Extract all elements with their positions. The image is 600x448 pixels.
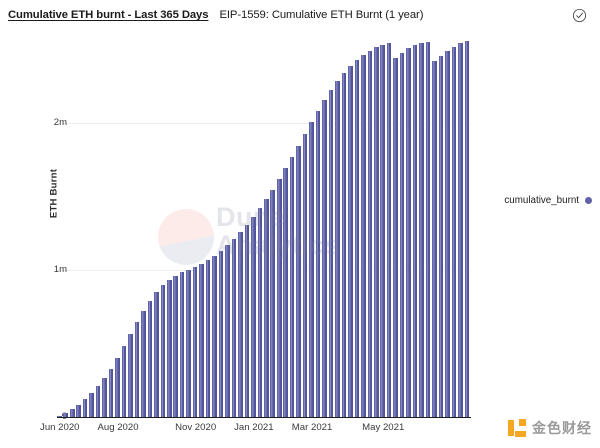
- bar[interactable]: [232, 239, 238, 417]
- bar[interactable]: [374, 47, 380, 417]
- bar[interactable]: [419, 43, 425, 417]
- bar[interactable]: [400, 53, 406, 417]
- bar[interactable]: [348, 66, 354, 417]
- bar[interactable]: [154, 292, 160, 417]
- bar[interactable]: [212, 256, 218, 417]
- bar[interactable]: [445, 51, 451, 417]
- bar[interactable]: [439, 56, 445, 417]
- bar[interactable]: [393, 58, 399, 417]
- bar[interactable]: [206, 260, 212, 417]
- bar[interactable]: [173, 276, 179, 417]
- bar[interactable]: [193, 267, 199, 417]
- x-axis-tick-label: May 2021: [362, 422, 404, 433]
- x-axis-tick-label: Mar 2021: [292, 422, 333, 433]
- brand-name: 金色财经: [532, 418, 592, 438]
- bar[interactable]: [161, 285, 167, 417]
- legend-item-label: cumulative_burnt: [504, 195, 579, 206]
- bar[interactable]: [316, 111, 322, 417]
- legend-color-swatch: [585, 197, 592, 204]
- check-circle-icon[interactable]: [572, 8, 587, 23]
- bar[interactable]: [264, 199, 270, 417]
- bar[interactable]: [387, 43, 393, 417]
- bar-chart: ETH Burnt 01m2m Dune Analytics Jun 2020A…: [0, 30, 600, 448]
- jinse-logo-icon: [508, 419, 526, 437]
- bar[interactable]: [413, 45, 419, 417]
- bar[interactable]: [96, 386, 102, 417]
- page-title: Cumulative ETH burnt - Last 365 Days: [8, 9, 208, 21]
- chart-header: Cumulative ETH burnt - Last 365 Days EIP…: [0, 0, 600, 30]
- bar[interactable]: [329, 90, 335, 417]
- bar[interactable]: [70, 409, 76, 417]
- bar[interactable]: [219, 251, 225, 417]
- bar[interactable]: [309, 122, 315, 417]
- x-axis-tick-label: Nov 2020: [175, 422, 216, 433]
- bar[interactable]: [303, 134, 309, 417]
- brand-watermark: 金色财经: [508, 418, 592, 438]
- bar[interactable]: [290, 157, 296, 417]
- bar[interactable]: [76, 405, 82, 417]
- bar[interactable]: [432, 61, 438, 417]
- x-axis-line: [57, 417, 471, 418]
- bar[interactable]: [180, 272, 186, 417]
- bar[interactable]: [458, 43, 464, 417]
- bar[interactable]: [186, 270, 192, 417]
- bar[interactable]: [361, 55, 367, 417]
- bar[interactable]: [251, 217, 257, 417]
- bar[interactable]: [368, 51, 374, 417]
- bar[interactable]: [102, 378, 108, 417]
- bar[interactable]: [83, 399, 89, 417]
- bar[interactable]: [199, 264, 205, 417]
- bar[interactable]: [89, 393, 95, 417]
- bar[interactable]: [258, 208, 264, 417]
- x-axis-tick-label: Jun 2020: [40, 422, 79, 433]
- bar[interactable]: [245, 225, 251, 417]
- bar[interactable]: [322, 100, 328, 417]
- x-axis-tick-label: Jan 2021: [234, 422, 273, 433]
- bar[interactable]: [426, 42, 432, 417]
- bar[interactable]: [452, 47, 458, 417]
- bar[interactable]: [283, 168, 289, 417]
- bar[interactable]: [238, 232, 244, 417]
- bar[interactable]: [342, 73, 348, 417]
- bar[interactable]: [128, 334, 134, 417]
- bar[interactable]: [335, 81, 341, 417]
- bar[interactable]: [167, 280, 173, 417]
- bar[interactable]: [141, 311, 147, 417]
- bar[interactable]: [355, 60, 361, 417]
- bar[interactable]: [406, 48, 412, 417]
- bar[interactable]: [225, 245, 231, 417]
- bar[interactable]: [115, 358, 121, 417]
- bar[interactable]: [296, 146, 302, 417]
- bar[interactable]: [109, 369, 115, 417]
- bar[interactable]: [122, 346, 128, 417]
- bar[interactable]: [380, 45, 386, 417]
- bar[interactable]: [135, 322, 141, 417]
- x-axis-tick-label: Aug 2020: [97, 422, 138, 433]
- bar[interactable]: [270, 190, 276, 417]
- bar[interactable]: [277, 179, 283, 417]
- chart-legend[interactable]: cumulative_burnt: [504, 195, 592, 206]
- bar-series-cumulative-burnt: [57, 35, 471, 417]
- bar[interactable]: [148, 301, 154, 417]
- chart-subtitle: EIP-1559: Cumulative ETH Burnt (1 year): [219, 9, 423, 21]
- bar[interactable]: [465, 41, 471, 417]
